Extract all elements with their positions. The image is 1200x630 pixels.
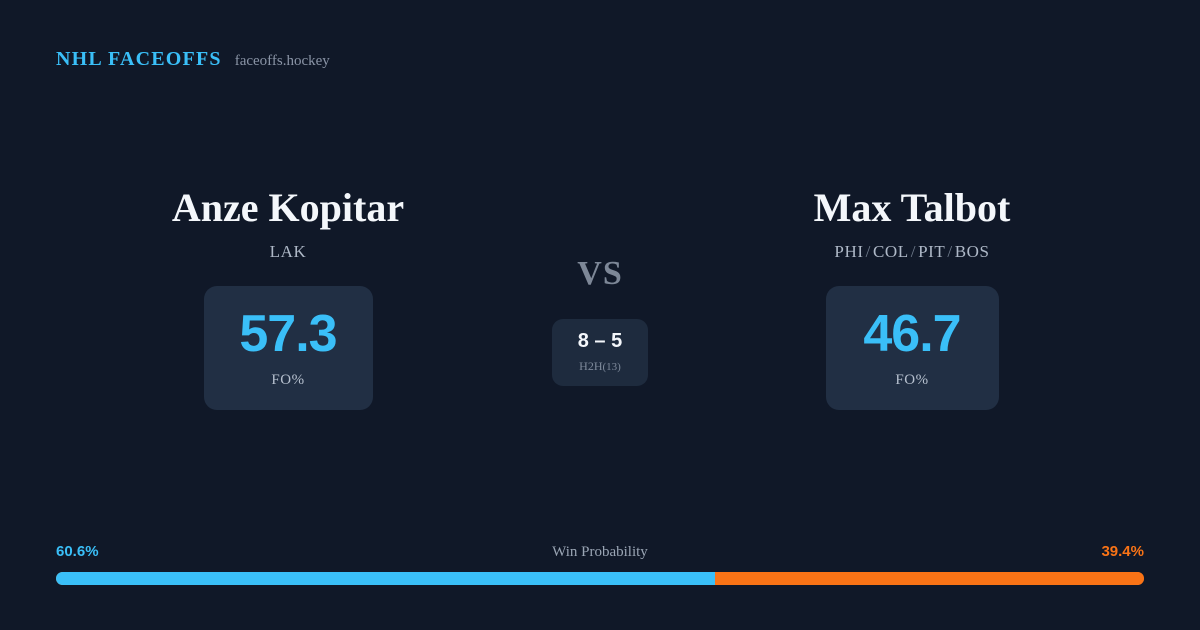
faceoff-pct-value-left: 57.3 (239, 308, 336, 360)
brand-title: NHL FACEOFFS (56, 48, 222, 71)
player-name-right: Max Talbot (814, 185, 1011, 231)
player-teams-right: PHI/COL/PIT/BOS (834, 242, 989, 262)
site-domain-label: faceoffs.hockey (235, 53, 330, 70)
player-card-right: Max Talbot PHI/COL/PIT/BOS 46.7 FO% (677, 185, 1147, 410)
faceoff-pct-label-right: FO% (895, 372, 928, 389)
faceoff-pct-label-left: FO% (271, 372, 304, 389)
head-to-head-score: 8 – 5 (578, 331, 622, 351)
player-teams-left: LAK (270, 242, 307, 262)
faceoff-pct-value-right: 46.7 (863, 308, 960, 360)
stat-card-right: 46.7 FO% (826, 286, 999, 410)
head-to-head-label: H2H(13) (579, 359, 621, 374)
matchup-section: Anze Kopitar LAK 57.3 FO% VS 8 – 5 H2H(1… (0, 185, 1200, 445)
head-to-head-card: 8 – 5 H2H(13) (552, 319, 648, 386)
win-probability-bar-left-fill (56, 572, 715, 585)
win-probability-bar-right-fill (715, 572, 1144, 585)
site-header: NHL FACEOFFS faceoffs.hockey (56, 48, 330, 71)
win-probability-section: 60.6% Win Probability 39.4% (56, 541, 1144, 585)
versus-column: VS 8 – 5 H2H(13) (500, 185, 700, 386)
versus-label: VS (577, 257, 622, 291)
win-probability-title: Win Probability (56, 541, 1144, 563)
head-to-head-count: (13) (603, 361, 621, 373)
head-to-head-label-text: H2H (579, 359, 602, 373)
player-name-left: Anze Kopitar (172, 185, 404, 231)
player-card-left: Anze Kopitar LAK 57.3 FO% (53, 185, 523, 410)
win-probability-labels: 60.6% Win Probability 39.4% (56, 541, 1144, 563)
win-probability-bar (56, 572, 1144, 585)
stat-card-left: 57.3 FO% (204, 286, 373, 410)
win-probability-right-value: 39.4% (1101, 541, 1144, 563)
